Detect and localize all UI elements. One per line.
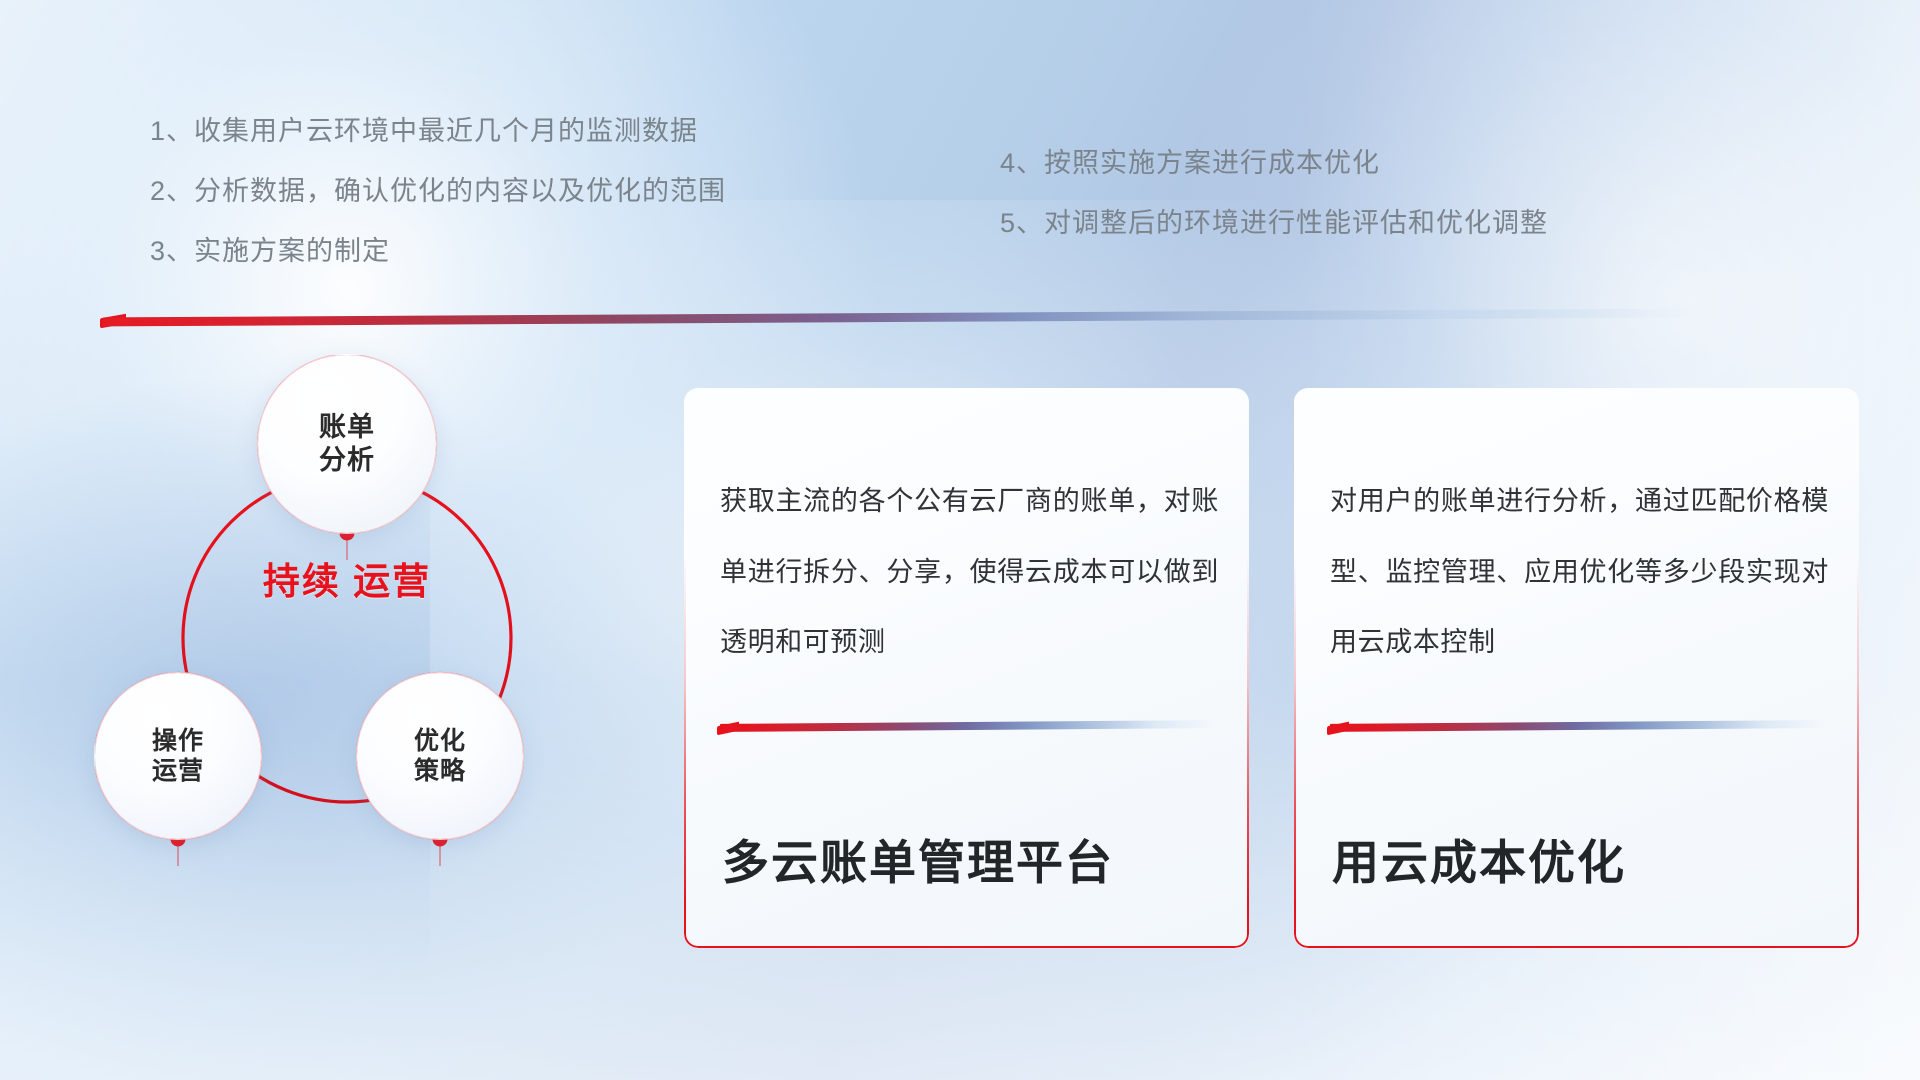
- card-description: 对用户的账单进行分析，通过匹配价格模型、监控管理、应用优化等多少段实现对用云成本…: [1330, 466, 1829, 678]
- process-steps-right-column: 4、按照实施方案进行成本优化 5、对调整后的环境进行性能评估和优化调整: [1000, 150, 1548, 270]
- feature-card-cloud-cost-optimization[interactable]: 对用户的账单进行分析，通过匹配价格模型、监控管理、应用优化等多少段实现对用云成本…: [1294, 388, 1859, 948]
- process-step-5: 5、对调整后的环境进行性能评估和优化调整: [1000, 210, 1548, 237]
- bubble-top-line1: 账单: [319, 411, 375, 444]
- bubble-right-line2: 策略: [414, 756, 466, 787]
- feature-card-multicloud-billing[interactable]: 获取主流的各个公有云厂商的账单，对账单进行拆分、分享，使得云成本可以做到透明和可…: [684, 388, 1249, 948]
- diagram-center-label: 持续 运营: [247, 560, 447, 604]
- diagram-bubble-optimization-strategy[interactable]: 优化 策略: [357, 673, 523, 839]
- process-steps-section: 1、收集用户云环境中最近几个月的监测数据 2、分析数据，确认优化的内容以及优化的…: [0, 0, 1920, 300]
- bubble-left-line1: 操作: [152, 726, 204, 757]
- diagram-bubble-bill-analysis[interactable]: 账单 分析: [258, 355, 436, 533]
- card-title: 多云账单管理平台: [722, 839, 1114, 886]
- process-step-2: 2、分析数据，确认优化的内容以及优化的范围: [150, 178, 726, 205]
- process-step-1: 1、收集用户云环境中最近几个月的监测数据: [150, 118, 726, 145]
- bubble-right-line1: 优化: [414, 726, 466, 757]
- continuous-operation-diagram: 账单 分析 操作 运营 优化 策略 持续 运营: [95, 355, 655, 965]
- diagram-bubble-operation[interactable]: 操作 运营: [95, 673, 261, 839]
- process-step-3: 3、实施方案的制定: [150, 238, 726, 265]
- bubble-left-line2: 运营: [152, 756, 204, 787]
- card-title: 用云成本优化: [1332, 839, 1626, 886]
- card-rule-line: [1330, 720, 1824, 732]
- center-label-line2: 运营: [353, 561, 431, 602]
- card-rule-line: [720, 720, 1214, 732]
- process-steps-left-column: 1、收集用户云环境中最近几个月的监测数据 2、分析数据，确认优化的内容以及优化的…: [150, 118, 726, 298]
- bubble-top-line2: 分析: [319, 444, 375, 477]
- center-label-line1: 持续: [263, 561, 341, 602]
- process-step-4: 4、按照实施方案进行成本优化: [1000, 150, 1548, 177]
- card-description: 获取主流的各个公有云厂商的账单，对账单进行拆分、分享，使得云成本可以做到透明和可…: [720, 466, 1219, 678]
